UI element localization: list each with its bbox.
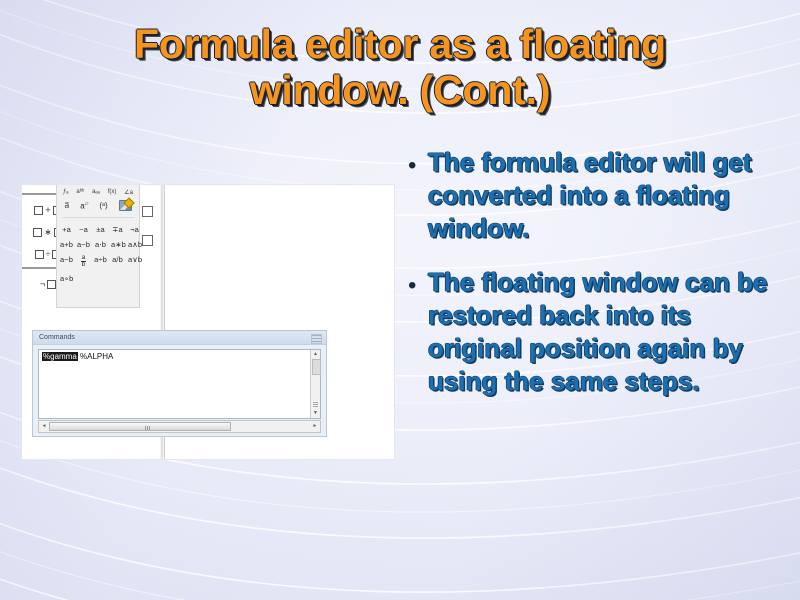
op-minus2[interactable]: a−b [60, 255, 73, 268]
placeholder-square-icon [33, 228, 42, 237]
horizontal-scrollbar[interactable]: ◄ ► [38, 420, 321, 433]
op-plus-minus[interactable]: ±a [94, 225, 107, 234]
element-superscript-icon[interactable]: aᵇᵇ [76, 189, 84, 195]
dock-grip-icon[interactable] [311, 334, 322, 344]
op-minus-plus[interactable]: ∓a [111, 225, 124, 234]
elements-operator-grid: +a −a ±a ∓a ¬a a+b a−b a⋅b a∗b a∧b a−b a… [60, 225, 138, 289]
scroll-grip-icon [145, 426, 150, 430]
op-or[interactable]: a∨b [128, 255, 141, 268]
bullet-dot-icon: • [408, 274, 428, 298]
remaining-token: %ALPHA [78, 352, 114, 361]
slide-title: Formula editor as a floating window. (Co… [50, 22, 750, 114]
list-item: • The formula editor will get converted … [408, 146, 790, 244]
divider [62, 217, 134, 218]
op-slash[interactable]: a/b [111, 255, 124, 268]
op-divide[interactable]: a÷b [94, 255, 107, 268]
element-format-paint-icon[interactable] [119, 200, 132, 211]
placeholder-square-icon [47, 280, 56, 289]
op-not[interactable]: ¬a [128, 225, 141, 234]
op-times[interactable]: a∗b [111, 240, 124, 249]
op-subtract[interactable]: a−b [77, 240, 90, 249]
element-fa-icon[interactable]: ƒₐ [63, 189, 69, 195]
selected-token: %gamma [42, 352, 78, 361]
elements-row-formats: a⃗ a▱ (ᵃ) [59, 198, 137, 213]
element-vector-icon[interactable]: a⃗ [64, 201, 69, 210]
commands-text-content: %gamma %ALPHA [42, 352, 113, 361]
placeholder-square-icon [35, 250, 44, 259]
list-item: • The floating window can be restored ba… [408, 266, 790, 397]
op-add[interactable]: a+b [60, 240, 73, 249]
element-angle-icon[interactable]: ∠a [124, 189, 133, 196]
operator-glyph: ∗ [44, 227, 52, 238]
element-power-icon[interactable]: a▱ [80, 201, 88, 211]
horizontal-scroll-thumb[interactable] [49, 422, 231, 431]
element-function-icon[interactable]: f(x) [108, 189, 117, 195]
operator-row: +a −a ±a ∓a ¬a [60, 225, 138, 234]
vertical-scroll-thumb[interactable] [312, 359, 321, 375]
commands-title-bar[interactable]: Commands [33, 331, 326, 345]
embedded-screenshot: + ∗ ÷ ¬ ƒₐ [22, 185, 394, 459]
operator-glyph: ¬ [40, 279, 45, 289]
elements-row-attributes: ƒₐ aᵇᵇ aₐₐ f(x) ∠a [59, 186, 137, 198]
scroll-right-arrow-icon[interactable]: ► [311, 422, 319, 431]
operator-row: a−b ab a÷b a/b a∨b [60, 255, 138, 268]
scroll-down-arrow-icon[interactable]: ▼ [312, 410, 319, 417]
element-subscript-icon[interactable]: aₐₐ [92, 189, 100, 195]
floating-elements-panel: ƒₐ aᵇᵇ aₐₐ f(x) ∠a a⃗ a▱ (ᵃ) +a −a ±a ∓a [56, 185, 140, 308]
commands-title-label: Commands [39, 334, 75, 341]
bullet-text: The formula editor will get converted in… [428, 146, 790, 244]
operator-glyph: ÷ [46, 249, 51, 259]
operator-row: a+b a−b a⋅b a∗b a∧b [60, 240, 138, 249]
op-cdot[interactable]: a⋅b [94, 240, 107, 249]
bullet-dot-icon: • [408, 154, 428, 178]
op-and[interactable]: a∧b [128, 240, 141, 249]
operator-glyph: + [45, 205, 50, 215]
scroll-left-arrow-icon[interactable]: ◄ [40, 422, 48, 431]
element-button-stub[interactable] [142, 235, 153, 246]
scroll-grip-icon [313, 402, 318, 407]
bullet-list: • The formula editor will get converted … [408, 146, 790, 419]
element-button-stub[interactable] [142, 206, 153, 217]
commands-window: Commands %gamma %ALPHA ▲ ▼ ◄ ► [32, 330, 327, 437]
slide-canvas: Formula editor as a floating window. (Co… [0, 0, 800, 600]
op-unary-plus[interactable]: +a [60, 225, 73, 234]
placeholder-square-icon [34, 206, 43, 215]
scroll-up-arrow-icon[interactable]: ▲ [312, 351, 319, 358]
bullet-text: The floating window can be restored back… [428, 266, 790, 397]
vertical-scrollbar[interactable]: ▲ ▼ [310, 350, 320, 418]
element-brackets-icon[interactable]: (ᵃ) [99, 201, 107, 210]
op-circ[interactable]: a∘b [60, 274, 73, 283]
operator-row: a∘b [60, 274, 138, 283]
commands-text-area[interactable]: %gamma %ALPHA ▲ ▼ [38, 349, 321, 419]
op-fraction[interactable]: ab [77, 255, 90, 268]
op-unary-minus[interactable]: −a [77, 225, 90, 234]
